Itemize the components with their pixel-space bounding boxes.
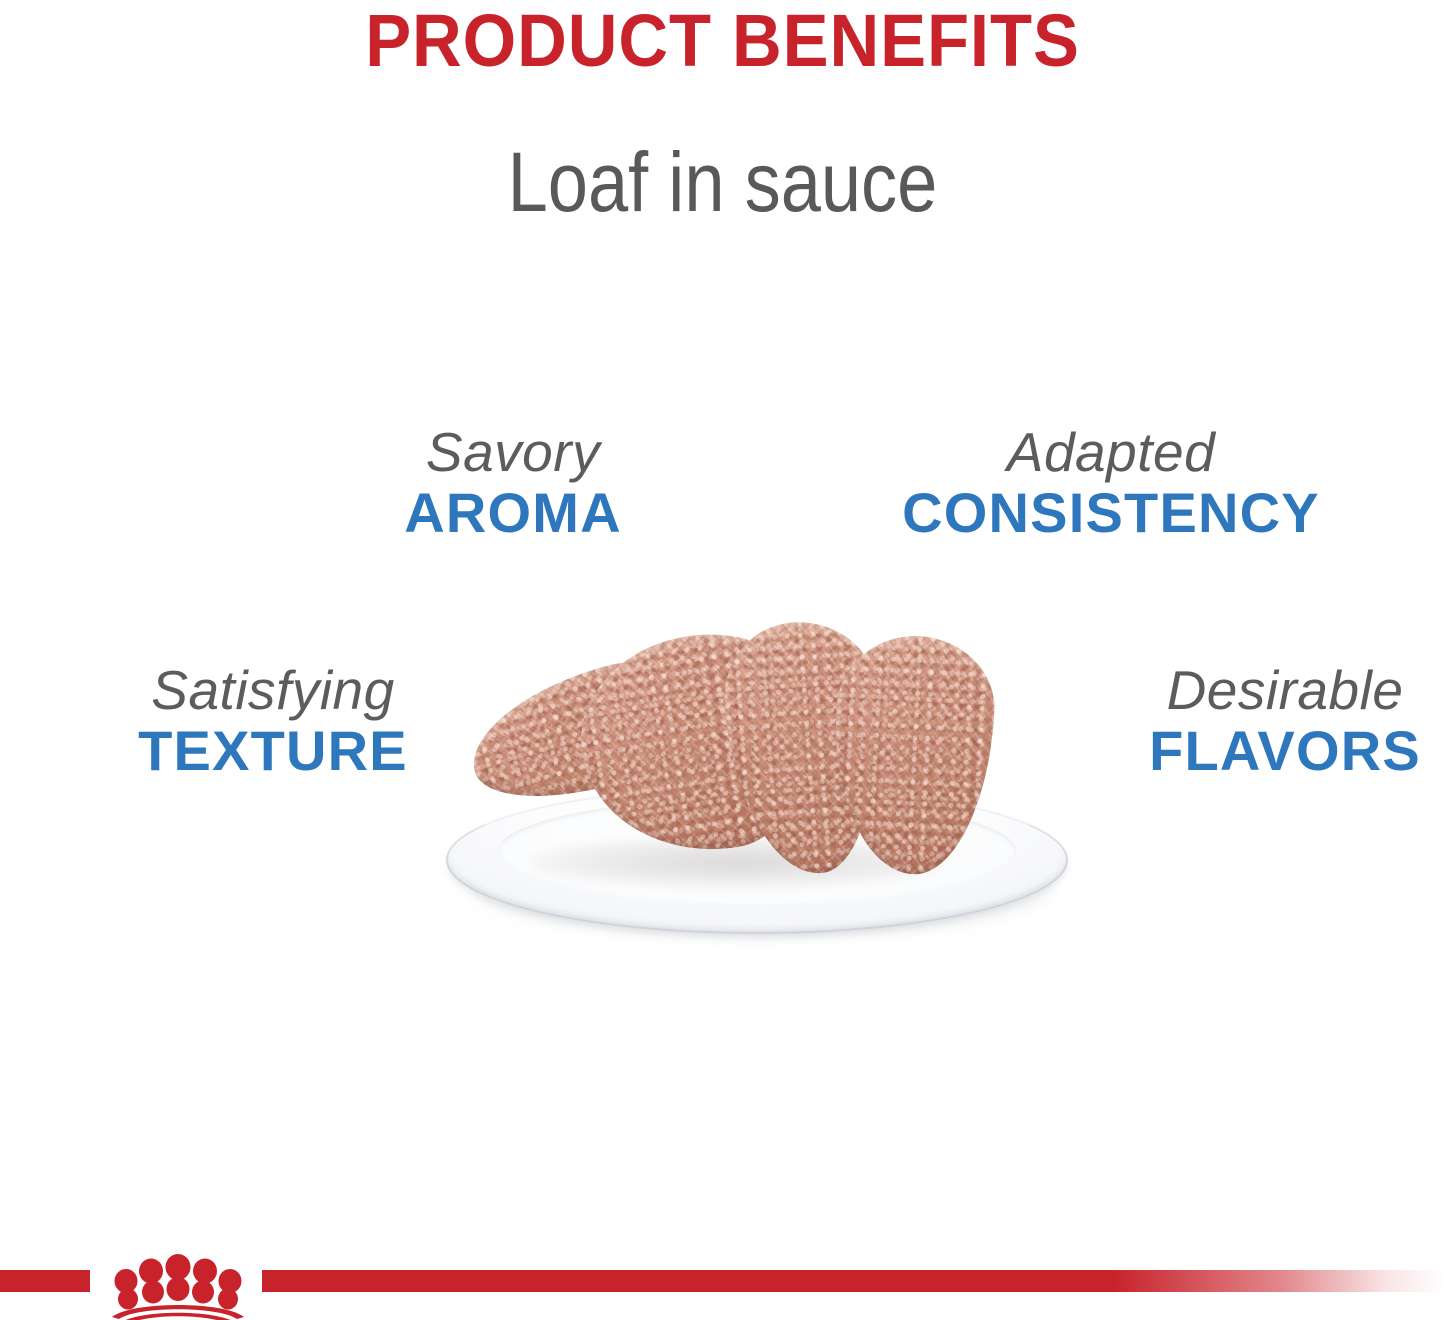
page-title: PRODUCT BENEFITS: [51, 4, 1395, 78]
benefit-texture: Satisfying TEXTURE: [58, 662, 488, 779]
benefit-aroma-label: AROMA: [303, 484, 723, 541]
benefit-texture-adjective: Satisfying: [58, 662, 488, 718]
product-subtitle: Loaf in sauce: [101, 140, 1344, 224]
benefit-consistency-label: CONSISTENCY: [880, 484, 1342, 541]
benefit-consistency: Adapted CONSISTENCY: [880, 424, 1342, 541]
royal-canin-crown-icon: [98, 1254, 258, 1320]
benefit-texture-label: TEXTURE: [58, 722, 488, 779]
benefit-aroma-adjective: Savory: [303, 424, 723, 480]
food-slices-group: [432, 600, 1082, 900]
product-food-image: [432, 600, 1082, 985]
benefit-consistency-adjective: Adapted: [880, 424, 1342, 480]
footer: [0, 1258, 1445, 1320]
benefit-flavors: Desirable FLAVORS: [1110, 662, 1445, 779]
benefit-flavors-adjective: Desirable: [1110, 662, 1445, 718]
benefit-aroma: Savory AROMA: [303, 424, 723, 541]
benefit-flavors-label: FLAVORS: [1110, 722, 1445, 779]
product-benefits-panel: PRODUCT BENEFITS Loaf in sauce Savory AR…: [0, 0, 1445, 1320]
footer-rule-right: [262, 1270, 1445, 1292]
footer-rule-left: [0, 1270, 90, 1292]
